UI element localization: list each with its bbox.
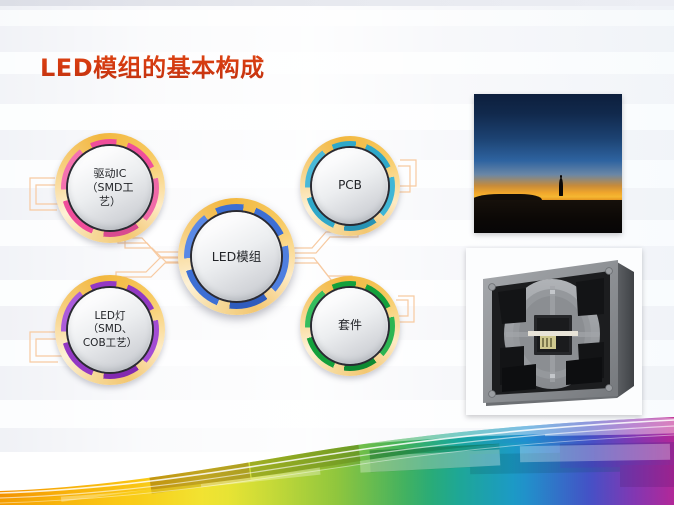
- node-driver-ic[interactable]: 驱动IC （SMD工 艺）: [55, 133, 165, 243]
- node-face: LED灯 （SMD、 COB工艺）: [68, 288, 152, 372]
- node-face: LED模组: [192, 212, 281, 301]
- node-label: LED灯 （SMD、 COB工艺）: [77, 310, 143, 350]
- sunset-person-silhouette: [559, 178, 563, 196]
- node-hub-led-module[interactable]: LED模组: [178, 198, 295, 315]
- sunset-ground: [474, 200, 622, 233]
- node-led-lamp[interactable]: LED灯 （SMD、 COB工艺）: [55, 275, 165, 385]
- node-kit[interactable]: 套件: [300, 276, 400, 376]
- node-label: PCB: [332, 178, 368, 193]
- node-label: 驱动IC （SMD工 艺）: [81, 167, 140, 209]
- node-label: 套件: [332, 318, 368, 333]
- slide-canvas: LED模组的基本构成: [0, 0, 674, 505]
- background-top-strip: [0, 0, 674, 6]
- node-label: LED模组: [206, 249, 268, 265]
- node-face: 驱动IC （SMD工 艺）: [68, 146, 152, 230]
- node-face: PCB: [312, 148, 388, 224]
- page-title: LED模组的基本构成: [40, 48, 265, 83]
- node-pcb[interactable]: PCB: [300, 136, 400, 236]
- node-face: 套件: [312, 288, 388, 364]
- led-panel-photo: [466, 248, 642, 415]
- sunset-photo: [474, 94, 622, 233]
